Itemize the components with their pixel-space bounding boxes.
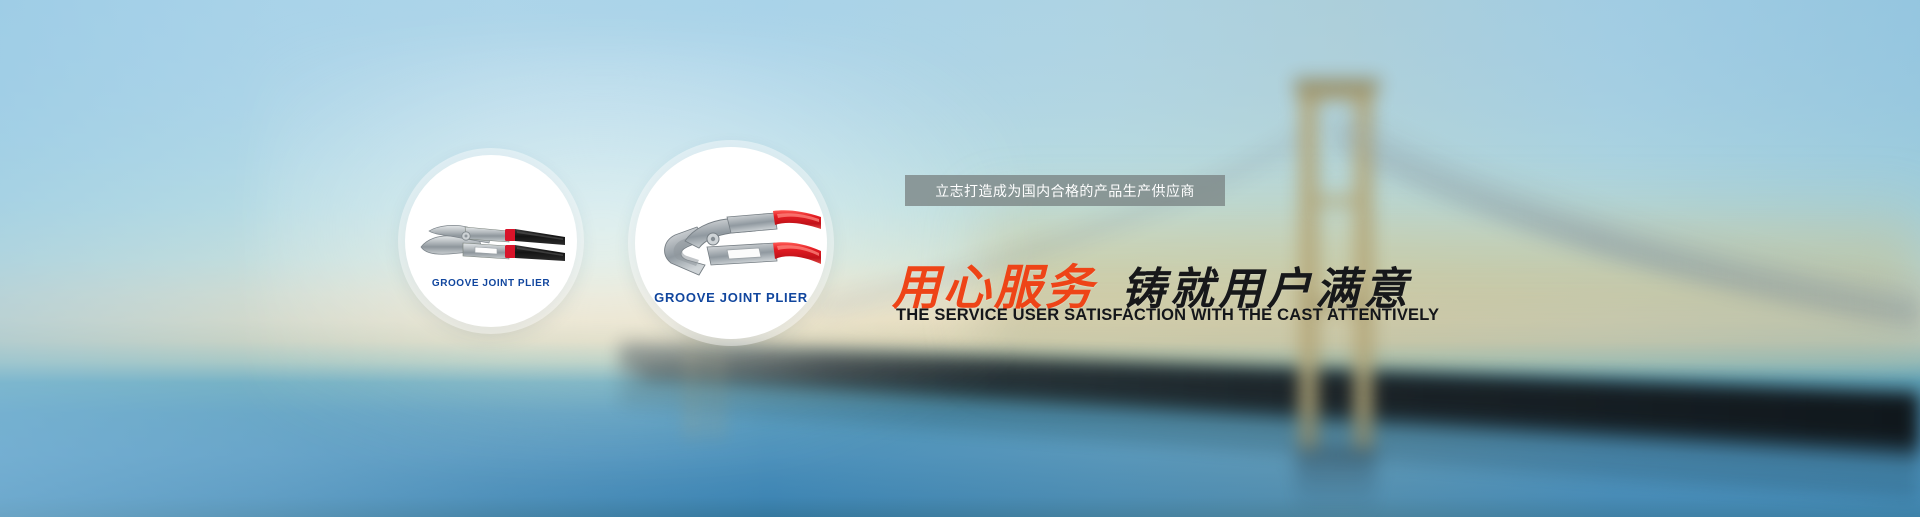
product-circle-groove-joint-plier-red[interactable]: GROOVE JOINT PLIER xyxy=(635,147,827,339)
product-caption: GROOVE JOINT PLIER xyxy=(635,290,827,305)
groove-joint-plier-red-illustration xyxy=(635,147,827,339)
hero-banner: GROOVE JOINT PLIER xyxy=(0,0,1920,517)
subline-text: THE SERVICE USER SATISFACTION WITH THE C… xyxy=(896,306,1439,325)
product-circle-groove-joint-plier-black[interactable]: GROOVE JOINT PLIER xyxy=(405,155,577,327)
product-caption: GROOVE JOINT PLIER xyxy=(405,278,577,289)
tagline-text: 立志打造成为国内合格的产品生产供应商 xyxy=(935,181,1195,201)
tagline-bar: 立志打造成为国内合格的产品生产供应商 xyxy=(905,175,1225,206)
groove-joint-plier-black-illustration xyxy=(405,155,577,327)
